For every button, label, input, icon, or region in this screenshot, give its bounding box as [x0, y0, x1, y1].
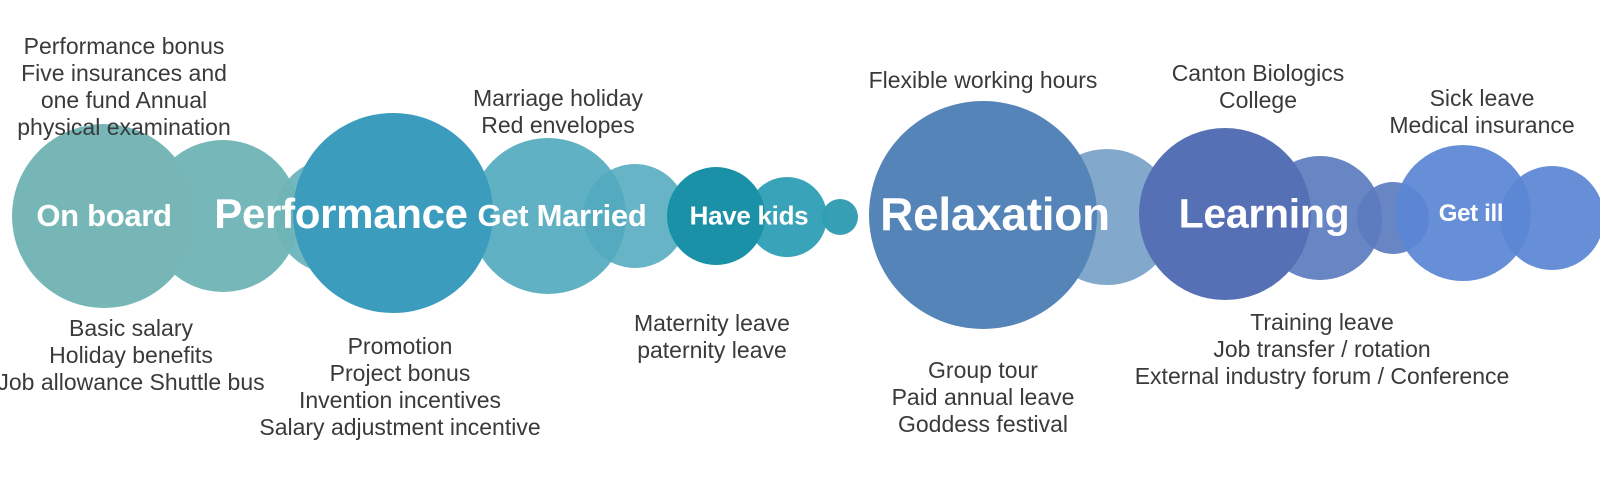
annotation-line: Holiday benefits — [0, 342, 265, 369]
annotation-learning-top: Canton BiologicsCollege — [1172, 60, 1345, 114]
annotation-line: External industry forum / Conference — [1135, 363, 1510, 390]
annotation-line: Maternity leave — [634, 310, 790, 337]
infographic-canvas: On boardPerformanceGet MarriedHave kidsR… — [0, 0, 1600, 480]
annotation-line: Medical insurance — [1389, 112, 1574, 139]
annotation-line: Job transfer / rotation — [1135, 336, 1510, 363]
annotation-line: Invention incentives — [259, 387, 540, 414]
annotation-line: Promotion — [259, 333, 540, 360]
annotation-learning-bottom: Training leaveJob transfer / rotationExt… — [1135, 309, 1510, 390]
annotation-line: Job allowance Shuttle bus — [0, 369, 265, 396]
annotation-line: Group tour — [892, 357, 1075, 384]
annotation-line: Paid annual leave — [892, 384, 1075, 411]
bubble-kids-dot — [822, 199, 858, 235]
annotation-line: Red envelopes — [473, 112, 643, 139]
annotation-line: Salary adjustment incentive — [259, 414, 540, 441]
stage-label-get-married[interactable]: Get Married — [478, 198, 647, 234]
stage-label-learning[interactable]: Learning — [1179, 191, 1350, 238]
annotation-line: paternity leave — [634, 337, 790, 364]
annotation-line: one fund Annual — [17, 87, 231, 114]
stage-label-on-board[interactable]: On board — [36, 198, 171, 234]
stage-label-get-ill[interactable]: Get ill — [1439, 200, 1504, 228]
annotation-relaxation-bottom: Group tourPaid annual leaveGoddess festi… — [892, 357, 1075, 438]
annotation-line: Flexible working hours — [869, 67, 1098, 94]
annotation-line: Project bonus — [259, 360, 540, 387]
annotation-get-ill-top: Sick leaveMedical insurance — [1389, 85, 1574, 139]
annotation-performance-bottom: PromotionProject bonusInvention incentiv… — [259, 333, 540, 441]
annotation-line: College — [1172, 87, 1345, 114]
annotation-line: Five insurances and — [17, 60, 231, 87]
stage-label-have-kids[interactable]: Have kids — [690, 201, 809, 232]
annotation-line: Canton Biologics — [1172, 60, 1345, 87]
annotation-have-kids-bottom: Maternity leavepaternity leave — [634, 310, 790, 364]
annotation-line: Marriage holiday — [473, 85, 643, 112]
annotation-line: physical examination — [17, 114, 231, 141]
annotation-line: Sick leave — [1389, 85, 1574, 112]
annotation-line: Goddess festival — [892, 411, 1075, 438]
annotation-get-married-top: Marriage holidayRed envelopes — [473, 85, 643, 139]
annotation-relaxation-top: Flexible working hours — [869, 67, 1098, 94]
stage-label-relaxation[interactable]: Relaxation — [880, 187, 1110, 241]
stage-label-performance[interactable]: Performance — [214, 190, 467, 238]
annotation-line: Training leave — [1135, 309, 1510, 336]
annotation-on-board-bottom: Basic salaryHoliday benefitsJob allowanc… — [0, 315, 265, 396]
annotation-on-board-top: Performance bonusFive insurances andone … — [17, 33, 231, 141]
bubble-layer — [0, 0, 1600, 480]
annotation-line: Basic salary — [0, 315, 265, 342]
annotation-line: Performance bonus — [17, 33, 231, 60]
